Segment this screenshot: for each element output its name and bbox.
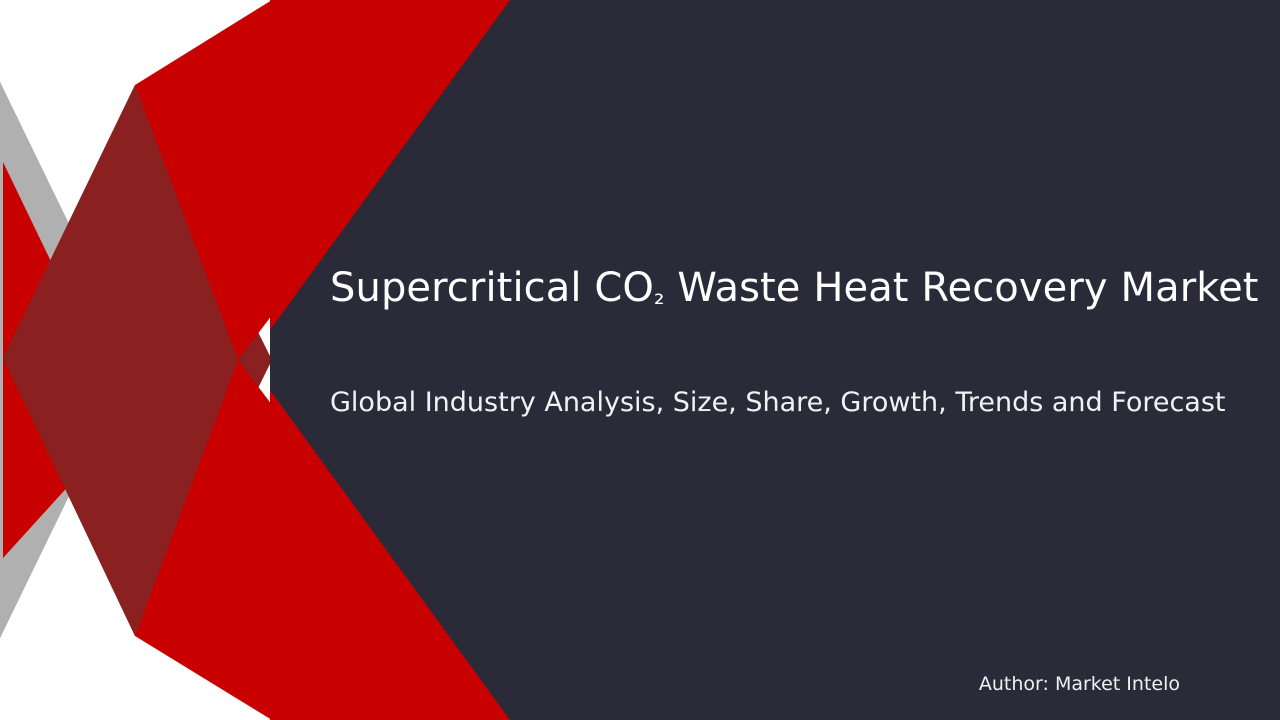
decorative-artwork (0, 0, 1280, 720)
title-slide: Supercritical CO₂ Waste Heat Recovery Ma… (0, 0, 1280, 720)
